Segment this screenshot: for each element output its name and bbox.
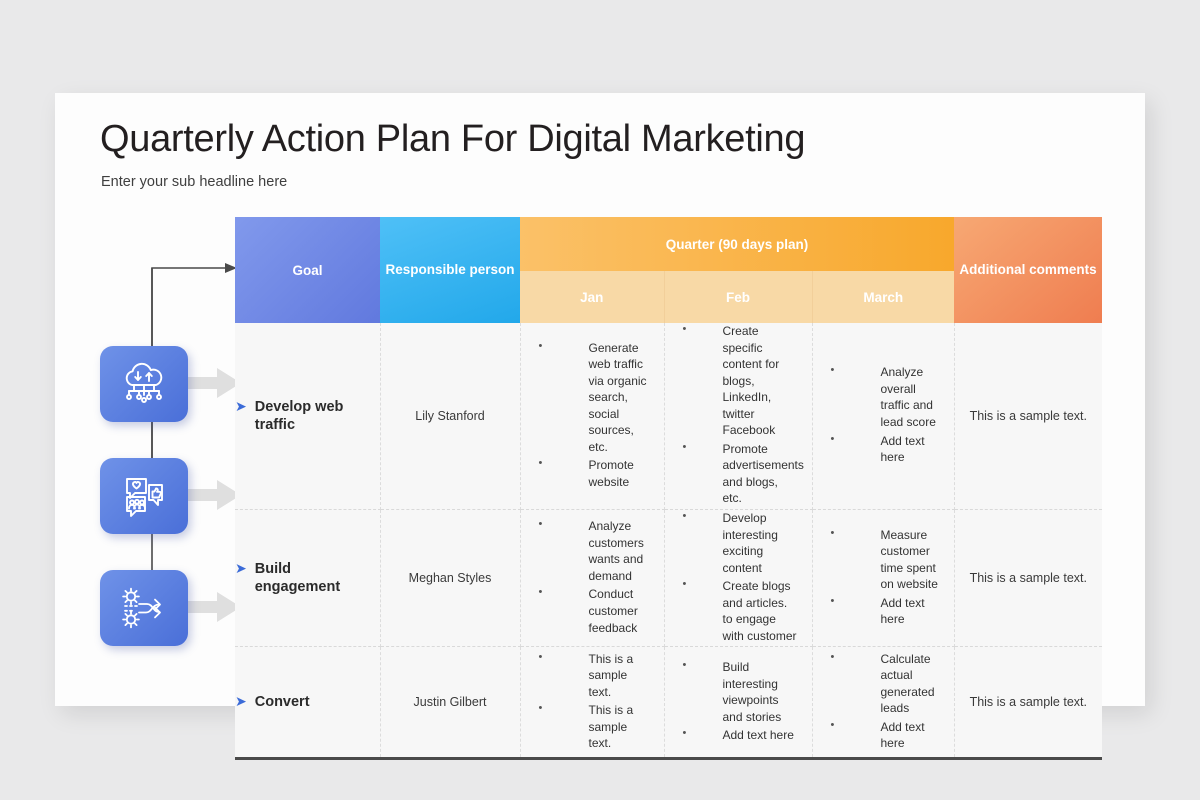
list-item: Calculate actual generated leads (823, 651, 940, 717)
table-header-row-top: Goal Responsible person Quarter (90 days… (235, 217, 1102, 271)
list-item: Add text here (823, 595, 940, 628)
cell-jan: This is a sample text. This is a sample … (520, 647, 664, 759)
cell-march: Measure customer time spent on website A… (812, 510, 954, 647)
list-item: Analyze overall traffic and lead score (823, 364, 940, 430)
header-responsible-person: Responsible person (380, 217, 520, 323)
list-item: This is a sample text. (531, 651, 650, 701)
cell-feb: Develop interesting exciting content Cre… (664, 510, 812, 647)
list-item: Develop interesting exciting content (675, 510, 798, 576)
chevron-bullet-icon: ➤ (235, 693, 247, 711)
list-item: Create specific content for blogs, Linke… (675, 323, 798, 439)
cell-goal: ➤ Develop web traffic (235, 323, 380, 510)
list-item: Create blogs and articles. to engage wit… (675, 578, 798, 644)
cell-goal: ➤ Build engagement (235, 510, 380, 647)
cell-comments: This is a sample text. (954, 510, 1102, 647)
cell-comments: This is a sample text. (954, 647, 1102, 759)
cell-jan: Analyze customers wants and demand Condu… (520, 510, 664, 647)
list-item: Conduct customer feedback (531, 586, 650, 636)
flow-arrow-icon (183, 478, 241, 512)
badge-build-engagement[interactable] (100, 458, 188, 534)
list-item: Add text here (823, 433, 940, 466)
list-item: Generate web traffic via organic search,… (531, 340, 650, 456)
list-item: Measure customer time spent on website (823, 527, 940, 593)
list-item: Build interesting viewpoints and stories (675, 659, 798, 725)
goal-label: Convert (255, 693, 310, 711)
cloud-traffic-icon (118, 360, 170, 408)
badge-convert[interactable] (100, 570, 188, 646)
engagement-bubbles-icon (118, 472, 170, 520)
cell-comments: This is a sample text. (954, 323, 1102, 510)
action-plan-table: Goal Responsible person Quarter (90 days… (235, 217, 1102, 760)
cell-feb: Create specific content for blogs, Linke… (664, 323, 812, 510)
list-item: Add text here (823, 719, 940, 752)
header-quarter: Quarter (90 days plan) (520, 217, 954, 271)
goal-label: Develop web traffic (255, 398, 380, 434)
cell-march: Analyze overall traffic and lead score A… (812, 323, 954, 510)
list-item: Promote advertisements and blogs, etc. (675, 441, 798, 507)
badge-develop-web-traffic[interactable] (100, 346, 188, 422)
cell-person: Lily Stanford (380, 323, 520, 510)
cell-march: Calculate actual generated leads Add tex… (812, 647, 954, 759)
cell-person: Justin Gilbert (380, 647, 520, 759)
list-item: This is a sample text. (531, 702, 650, 752)
list-item: Promote website (531, 457, 650, 490)
chevron-bullet-icon: ➤ (235, 398, 247, 416)
header-goal: Goal (235, 217, 380, 323)
table-row: ➤ Develop web traffic Lily Stanford Gene… (235, 323, 1102, 510)
cell-person: Meghan Styles (380, 510, 520, 647)
flow-arrow-icon (183, 590, 241, 624)
cell-jan: Generate web traffic via organic search,… (520, 323, 664, 510)
header-month-feb: Feb (664, 271, 812, 323)
table-row: ➤ Convert Justin Gilbert This is a sampl… (235, 647, 1102, 759)
header-month-jan: Jan (520, 271, 664, 323)
table-row: ➤ Build engagement Meghan Styles Analyze… (235, 510, 1102, 647)
chevron-bullet-icon: ➤ (235, 560, 247, 578)
header-month-march: March (812, 271, 954, 323)
cell-goal: ➤ Convert (235, 647, 380, 759)
goal-label: Build engagement (255, 560, 380, 596)
header-additional-comments: Additional comments (954, 217, 1102, 323)
list-item: Add text here (675, 727, 798, 744)
list-item: Analyze customers wants and demand (531, 518, 650, 584)
cell-feb: Build interesting viewpoints and stories… (664, 647, 812, 759)
gears-process-icon (118, 584, 170, 632)
slide-canvas: Quarterly Action Plan For Digital Market… (55, 93, 1145, 706)
flow-arrow-icon (183, 366, 241, 400)
